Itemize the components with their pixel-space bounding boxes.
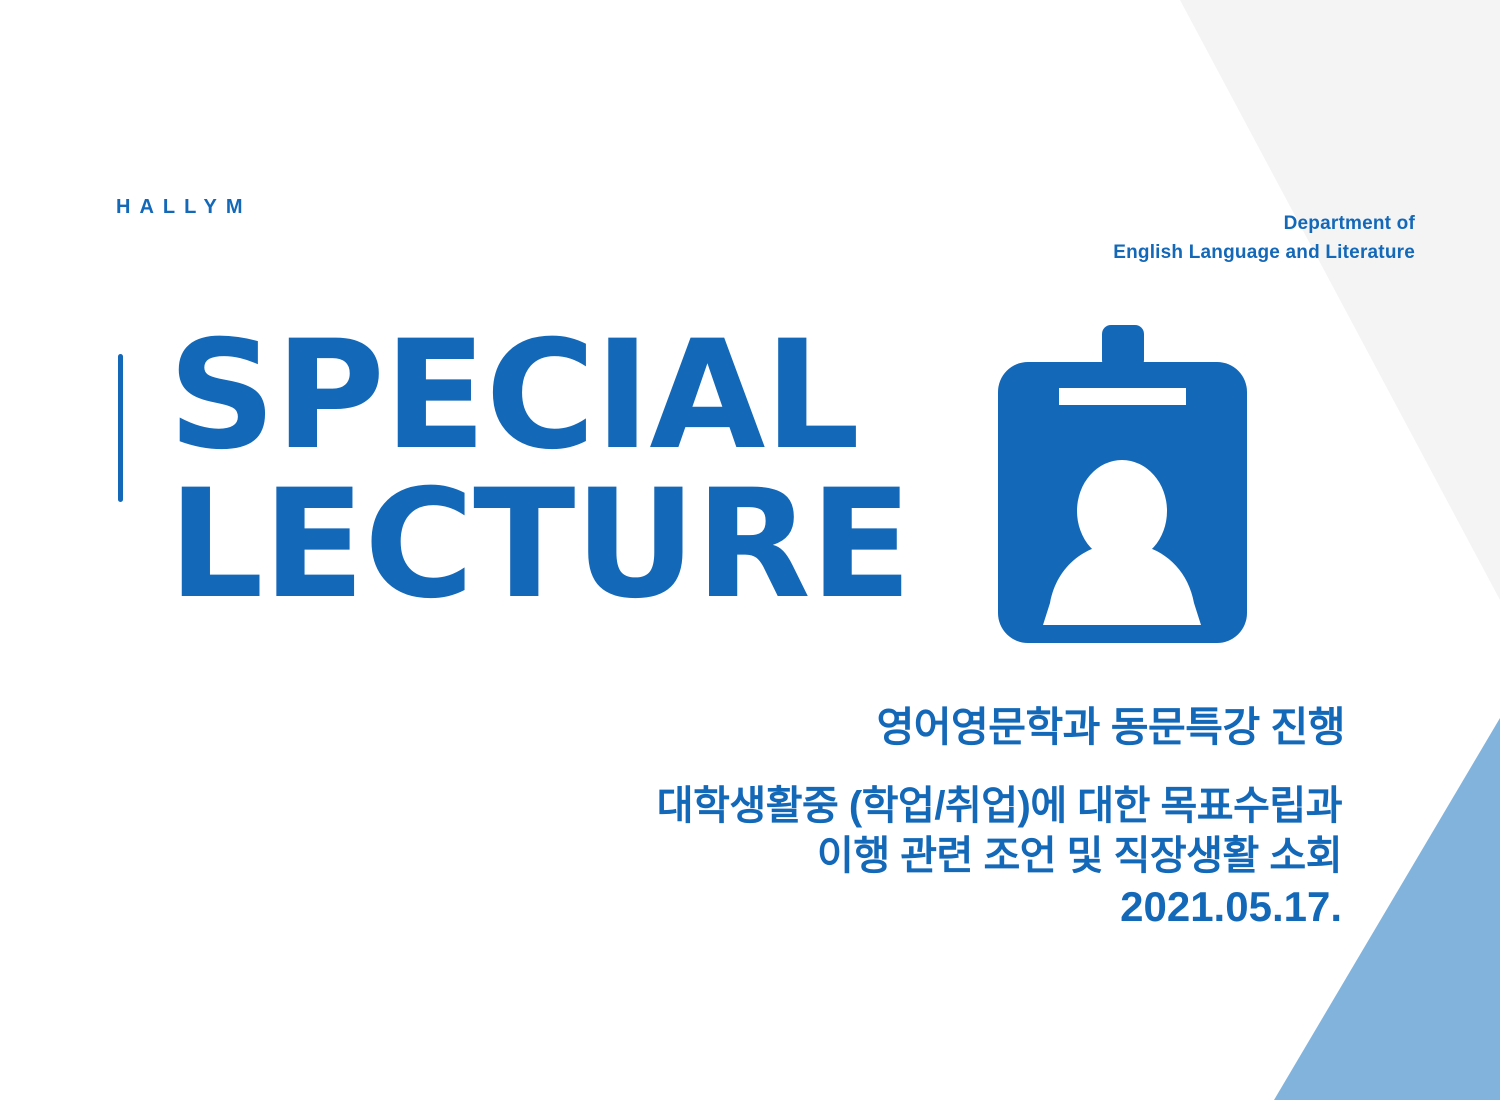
detail-line-2: 이행 관련 조언 및 직장생활 소회 <box>657 832 1342 882</box>
department-line-1: Department of <box>1113 210 1415 239</box>
detail-line-1: 대학생활중 (학업/취업)에 대한 목표수립과 <box>657 782 1342 832</box>
title-line-lecture: LECTURE <box>168 471 911 620</box>
department-line-2: English Language and Literature <box>1113 239 1415 268</box>
department-name: Department of English Language and Liter… <box>1113 210 1415 267</box>
korean-headline: 영어영문학과 동문특강 진행 <box>877 693 1345 753</box>
page-title: SPECIAL LECTURE <box>168 322 911 619</box>
title-line-special: SPECIAL <box>168 322 911 471</box>
id-badge-person-icon <box>995 325 1250 650</box>
title-accent-bar <box>118 354 123 502</box>
university-wordmark: HALLYM <box>116 196 251 219</box>
lecture-details: 대학생활중 (학업/취업)에 대한 목표수립과 이행 관련 조언 및 직장생활 … <box>657 782 1342 933</box>
poster-canvas: HALLYM Department of English Language an… <box>0 0 1500 1100</box>
lecture-date: 2021.05.17. <box>657 881 1342 933</box>
